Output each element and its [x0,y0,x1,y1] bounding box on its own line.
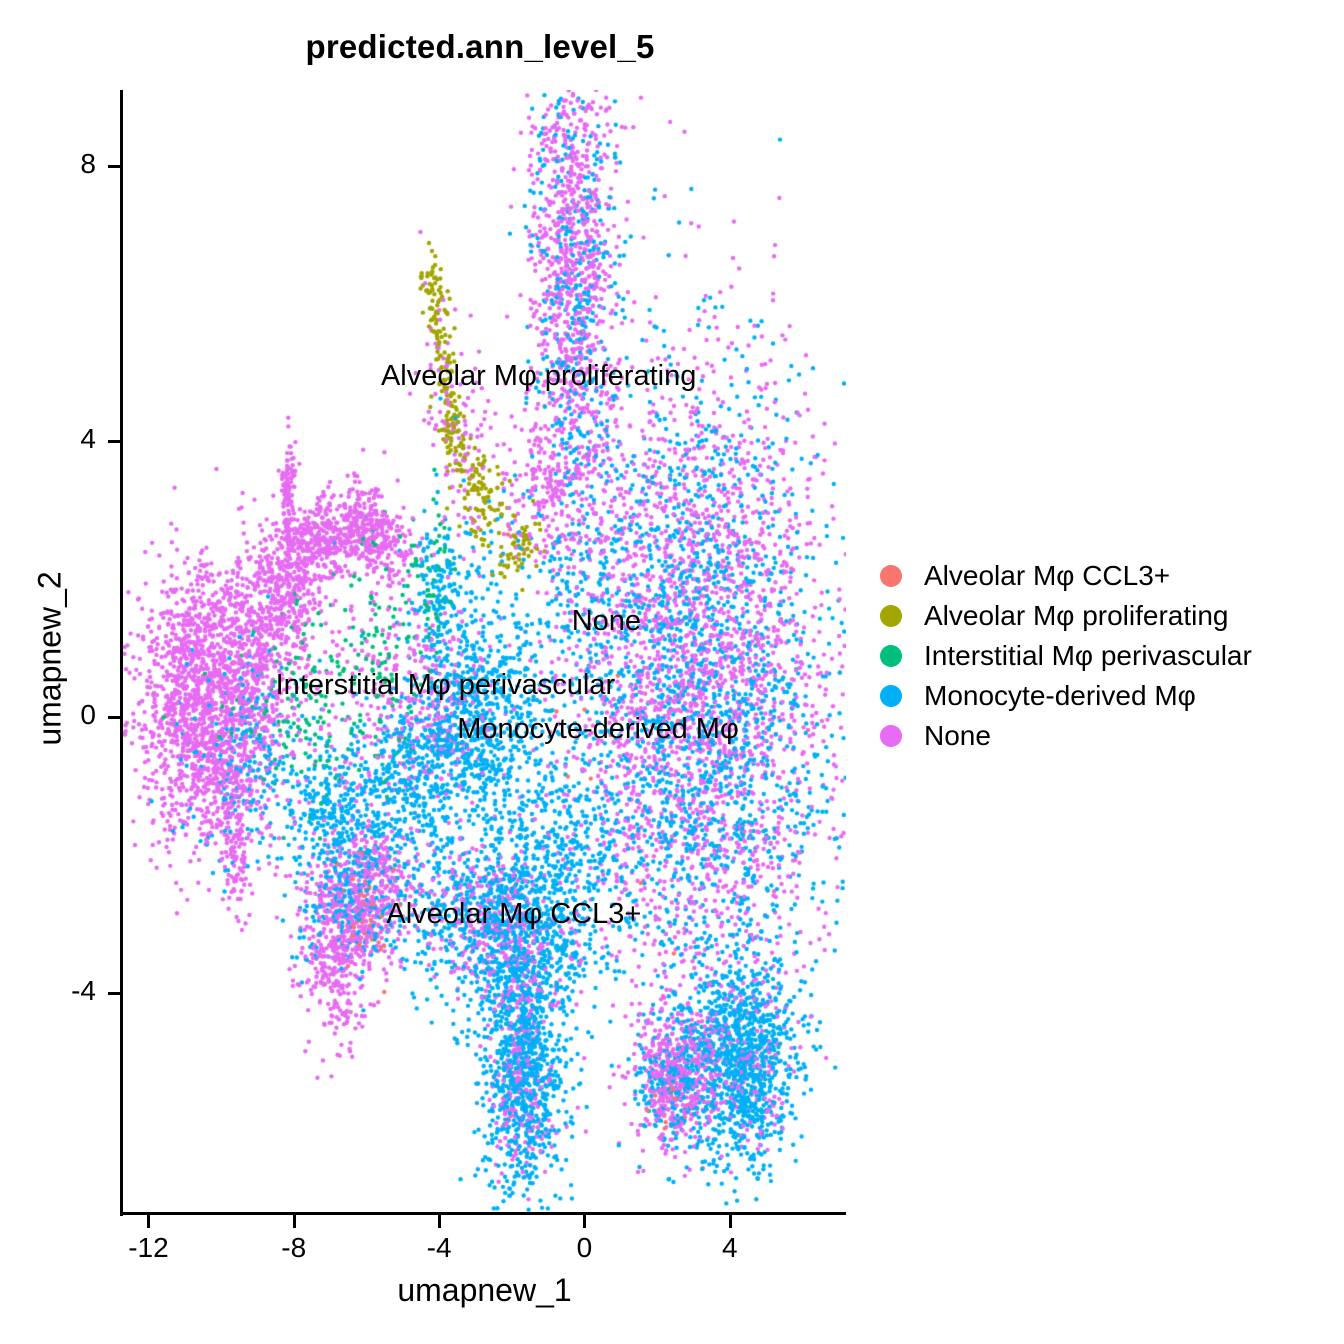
legend-item-label: Alveolar Mφ CCL3+ [924,560,1170,592]
x-tick-label: -12 [88,1232,208,1264]
y-tick-mark [108,992,121,995]
y-tick-label: 8 [0,148,96,180]
umap-scatter-figure: predicted.ann_level_5 840-4-12-8-404 Alv… [0,0,1344,1344]
x-tick-label: -8 [234,1232,354,1264]
legend: Alveolar Mφ CCL3+Alveolar Mφ proliferati… [880,556,1252,756]
x-tick-mark [147,1215,150,1228]
x-tick-label: 4 [670,1232,790,1264]
x-axis-line [120,1212,846,1215]
y-axis-label: umapnew_2 [32,359,69,959]
legend-swatch-dot-icon [880,645,902,667]
legend-item[interactable]: Alveolar Mφ proliferating [880,596,1252,636]
legend-swatch-dot-icon [880,725,902,747]
y-tick-mark [108,165,121,168]
legend-item[interactable]: Interstitial Mφ perivascular [880,636,1252,676]
x-tick-mark [583,1215,586,1228]
legend-swatch-dot-icon [880,685,902,707]
x-tick-mark [438,1215,441,1228]
y-tick-mark [108,716,121,719]
plot-panel [123,90,846,1213]
legend-item-label: Monocyte-derived Mφ [924,680,1196,712]
page-title: predicted.ann_level_5 [0,28,960,66]
scatter-plot-canvas [123,90,846,1213]
x-axis-label: umapnew_1 [123,1272,846,1309]
legend-item-label: Interstitial Mφ perivascular [924,640,1252,672]
x-tick-mark [729,1215,732,1228]
y-axis-line [120,90,123,1216]
x-tick-mark [293,1215,296,1228]
y-tick-mark [108,440,121,443]
x-tick-label: 0 [524,1232,644,1264]
y-tick-label: -4 [0,975,96,1007]
legend-swatch-dot-icon [880,565,902,587]
legend-item[interactable]: Monocyte-derived Mφ [880,676,1252,716]
legend-item[interactable]: None [880,716,1252,756]
legend-swatch-dot-icon [880,605,902,627]
x-tick-label: -4 [379,1232,499,1264]
legend-item[interactable]: Alveolar Mφ CCL3+ [880,556,1252,596]
legend-item-label: Alveolar Mφ proliferating [924,600,1229,632]
legend-item-label: None [924,720,991,752]
